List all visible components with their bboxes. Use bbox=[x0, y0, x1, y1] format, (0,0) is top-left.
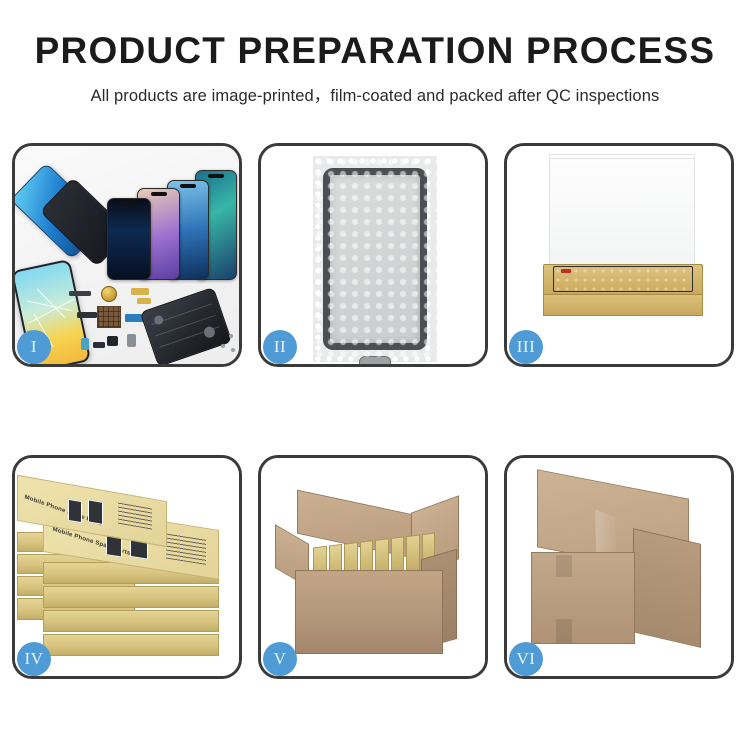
carton-right-panel bbox=[633, 528, 701, 648]
camera-module-icon bbox=[107, 336, 118, 346]
step-badge-1: I bbox=[17, 330, 51, 364]
page-header: PRODUCT PREPARATION PROCESS All products… bbox=[0, 0, 750, 106]
page-subtitle: All products are image-printed，film-coat… bbox=[0, 82, 750, 106]
flex-cable-icon bbox=[77, 312, 97, 318]
phone-device-icon bbox=[107, 198, 151, 280]
process-step-panel-4[interactable]: Mobile Phone Spare Parts Mobile Phone Sp… bbox=[12, 455, 242, 679]
step-4-image: Mobile Phone Spare Parts Mobile Phone Sp… bbox=[15, 458, 239, 676]
phone-notch-icon bbox=[180, 184, 196, 188]
step-2-image bbox=[261, 146, 485, 364]
process-step-panel-6[interactable]: VI bbox=[504, 455, 734, 679]
screw-icon bbox=[231, 348, 235, 352]
step-badge-4: IV bbox=[17, 642, 51, 676]
box-product-thumb bbox=[88, 499, 103, 525]
step-badge-5: V bbox=[263, 642, 297, 676]
page-title: PRODUCT PREPARATION PROCESS bbox=[0, 30, 750, 73]
process-step-grid: I II III bbox=[12, 143, 734, 679]
carton-handle-cut bbox=[556, 555, 572, 577]
carton-handle-cut bbox=[556, 619, 572, 643]
process-step-panel-1[interactable]: I bbox=[12, 143, 242, 367]
phone-fan-group bbox=[107, 162, 239, 280]
button-part-icon bbox=[93, 342, 105, 348]
carton-front-panel bbox=[295, 570, 443, 654]
step-badge-3: III bbox=[509, 330, 543, 364]
phone-screen-icon bbox=[323, 168, 427, 350]
battery-part-icon bbox=[127, 334, 136, 347]
chip-array-icon bbox=[97, 306, 121, 328]
step-6-image bbox=[507, 458, 731, 676]
step-1-image bbox=[15, 146, 239, 364]
screw-icon bbox=[229, 334, 233, 338]
step-badge-6: VI bbox=[509, 642, 543, 676]
carton-front-panel bbox=[531, 552, 635, 644]
box-spec-lines bbox=[118, 502, 152, 530]
vibration-motor-icon bbox=[101, 286, 117, 302]
flex-cable-icon bbox=[131, 288, 149, 295]
kraft-box-front bbox=[543, 294, 703, 316]
phone-notch-icon bbox=[151, 192, 167, 196]
process-step-panel-2[interactable]: II bbox=[258, 143, 488, 367]
step-3-image bbox=[507, 146, 731, 364]
box-spec-lines bbox=[166, 533, 206, 565]
phone-notch-icon bbox=[208, 174, 224, 178]
step-badge-2: II bbox=[263, 330, 297, 364]
step-5-image bbox=[261, 458, 485, 676]
sim-tray-icon bbox=[81, 338, 89, 350]
box-lid-inner bbox=[549, 158, 695, 270]
screw-icon bbox=[221, 344, 225, 348]
process-step-panel-5[interactable]: V bbox=[258, 455, 488, 679]
speaker-part-icon bbox=[69, 291, 91, 296]
phone-notch-icon bbox=[121, 202, 137, 206]
flex-cable-icon bbox=[137, 298, 151, 304]
screen-label-icon bbox=[561, 269, 571, 273]
retail-box-stack: Mobile Phone Spare Parts Mobile Phone Sp… bbox=[15, 458, 239, 676]
packed-screen-icon bbox=[553, 266, 693, 292]
process-step-panel-3[interactable]: III bbox=[504, 143, 734, 367]
box-product-thumb bbox=[68, 499, 82, 523]
